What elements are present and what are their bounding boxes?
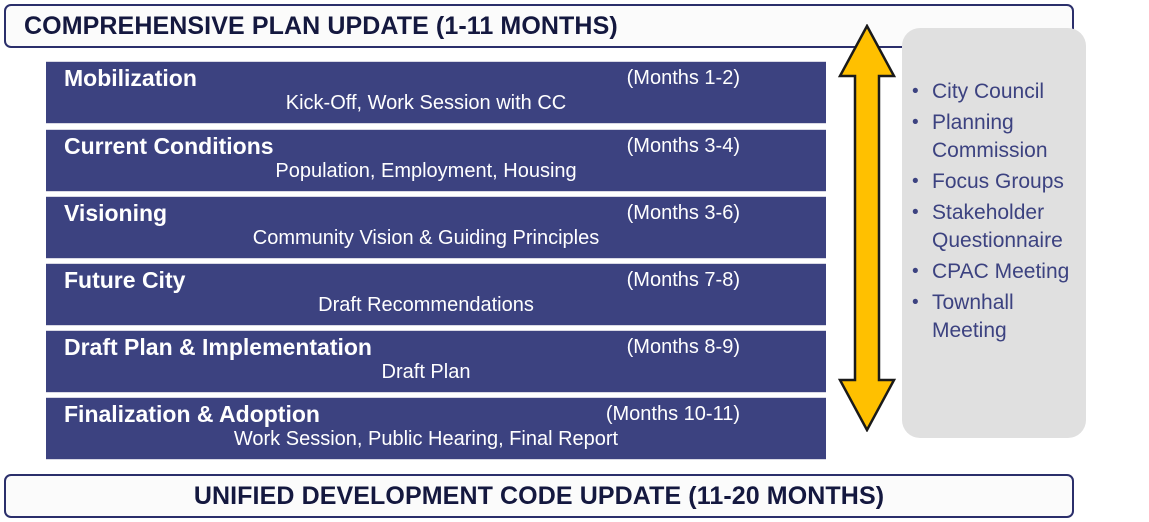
phase-title: Future City <box>64 267 185 294</box>
phase-subtitle: Community Vision & Guiding Principles <box>46 227 826 250</box>
phase-title: Draft Plan & Implementation <box>64 334 372 361</box>
bullet-icon: • <box>912 199 932 227</box>
phase-months: (Months 7-8) <box>627 269 740 292</box>
phase-row: Visioning (Months 3-6) Community Vision … <box>46 196 826 259</box>
phase-subtitle: Work Session, Public Hearing, Final Repo… <box>46 428 826 451</box>
phase-subtitle: Population, Employment, Housing <box>46 160 826 183</box>
phase-subtitle: Draft Recommendations <box>46 294 826 317</box>
phase-row: Mobilization (Months 1-2) Kick-Off, Work… <box>46 61 826 124</box>
participant-label: Stakeholder Questionnaire <box>932 199 1078 255</box>
participant-label: Focus Groups <box>932 168 1064 196</box>
phase-header: Future City (Months 7-8) <box>46 264 826 296</box>
phase-title: Visioning <box>64 200 167 227</box>
phase-title: Current Conditions <box>64 133 274 160</box>
list-item: • City Council <box>912 78 1078 106</box>
footer-title: UNIFIED DEVELOPMENT CODE UPDATE (11-20 M… <box>194 482 884 511</box>
list-item: • Focus Groups <box>912 168 1078 196</box>
participant-label: City Council <box>932 78 1044 106</box>
participant-label: Townhall Meeting <box>932 289 1078 345</box>
phase-subtitle: Kick-Off, Work Session with CC <box>46 92 826 115</box>
phase-header: Finalization & Adoption (Months 10-11) <box>46 398 826 430</box>
vertical-double-arrow-icon <box>836 24 898 432</box>
phase-header: Current Conditions (Months 3-4) <box>46 130 826 162</box>
bullet-icon: • <box>912 168 932 196</box>
phase-row: Future City (Months 7-8) Draft Recommend… <box>46 263 826 326</box>
phase-subtitle: Draft Plan <box>46 361 826 384</box>
udc-update-footer-banner: UNIFIED DEVELOPMENT CODE UPDATE (11-20 M… <box>4 474 1074 518</box>
participant-label: Planning Commission <box>932 109 1078 165</box>
participants-panel: • City Council • Planning Commission • F… <box>902 28 1086 438</box>
bullet-icon: • <box>912 78 932 106</box>
phase-months: (Months 8-9) <box>627 336 740 359</box>
bullet-icon: • <box>912 258 932 286</box>
phase-row: Finalization & Adoption (Months 10-11) W… <box>46 397 826 460</box>
bullet-icon: • <box>912 109 932 137</box>
phase-title: Finalization & Adoption <box>64 401 320 428</box>
list-item: • Planning Commission <box>912 109 1078 165</box>
phase-title: Mobilization <box>64 65 197 92</box>
phase-header: Draft Plan & Implementation (Months 8-9) <box>46 331 826 363</box>
list-item: • CPAC Meeting <box>912 258 1078 286</box>
list-item: • Townhall Meeting <box>912 289 1078 345</box>
phase-row: Current Conditions (Months 3-4) Populati… <box>46 129 826 192</box>
list-item: • Stakeholder Questionnaire <box>912 199 1078 255</box>
phase-months: (Months 3-6) <box>627 202 740 225</box>
participant-label: CPAC Meeting <box>932 258 1069 286</box>
phase-row: Draft Plan & Implementation (Months 8-9)… <box>46 330 826 393</box>
header-title: COMPREHENSIVE PLAN UPDATE (1-11 MONTHS) <box>6 12 618 41</box>
phase-months: (Months 3-4) <box>627 135 740 158</box>
phase-header: Mobilization (Months 1-2) <box>46 62 826 94</box>
bullet-icon: • <box>912 289 932 317</box>
phase-header: Visioning (Months 3-6) <box>46 197 826 229</box>
phase-months: (Months 10-11) <box>606 403 740 426</box>
phase-months: (Months 1-2) <box>627 67 740 90</box>
